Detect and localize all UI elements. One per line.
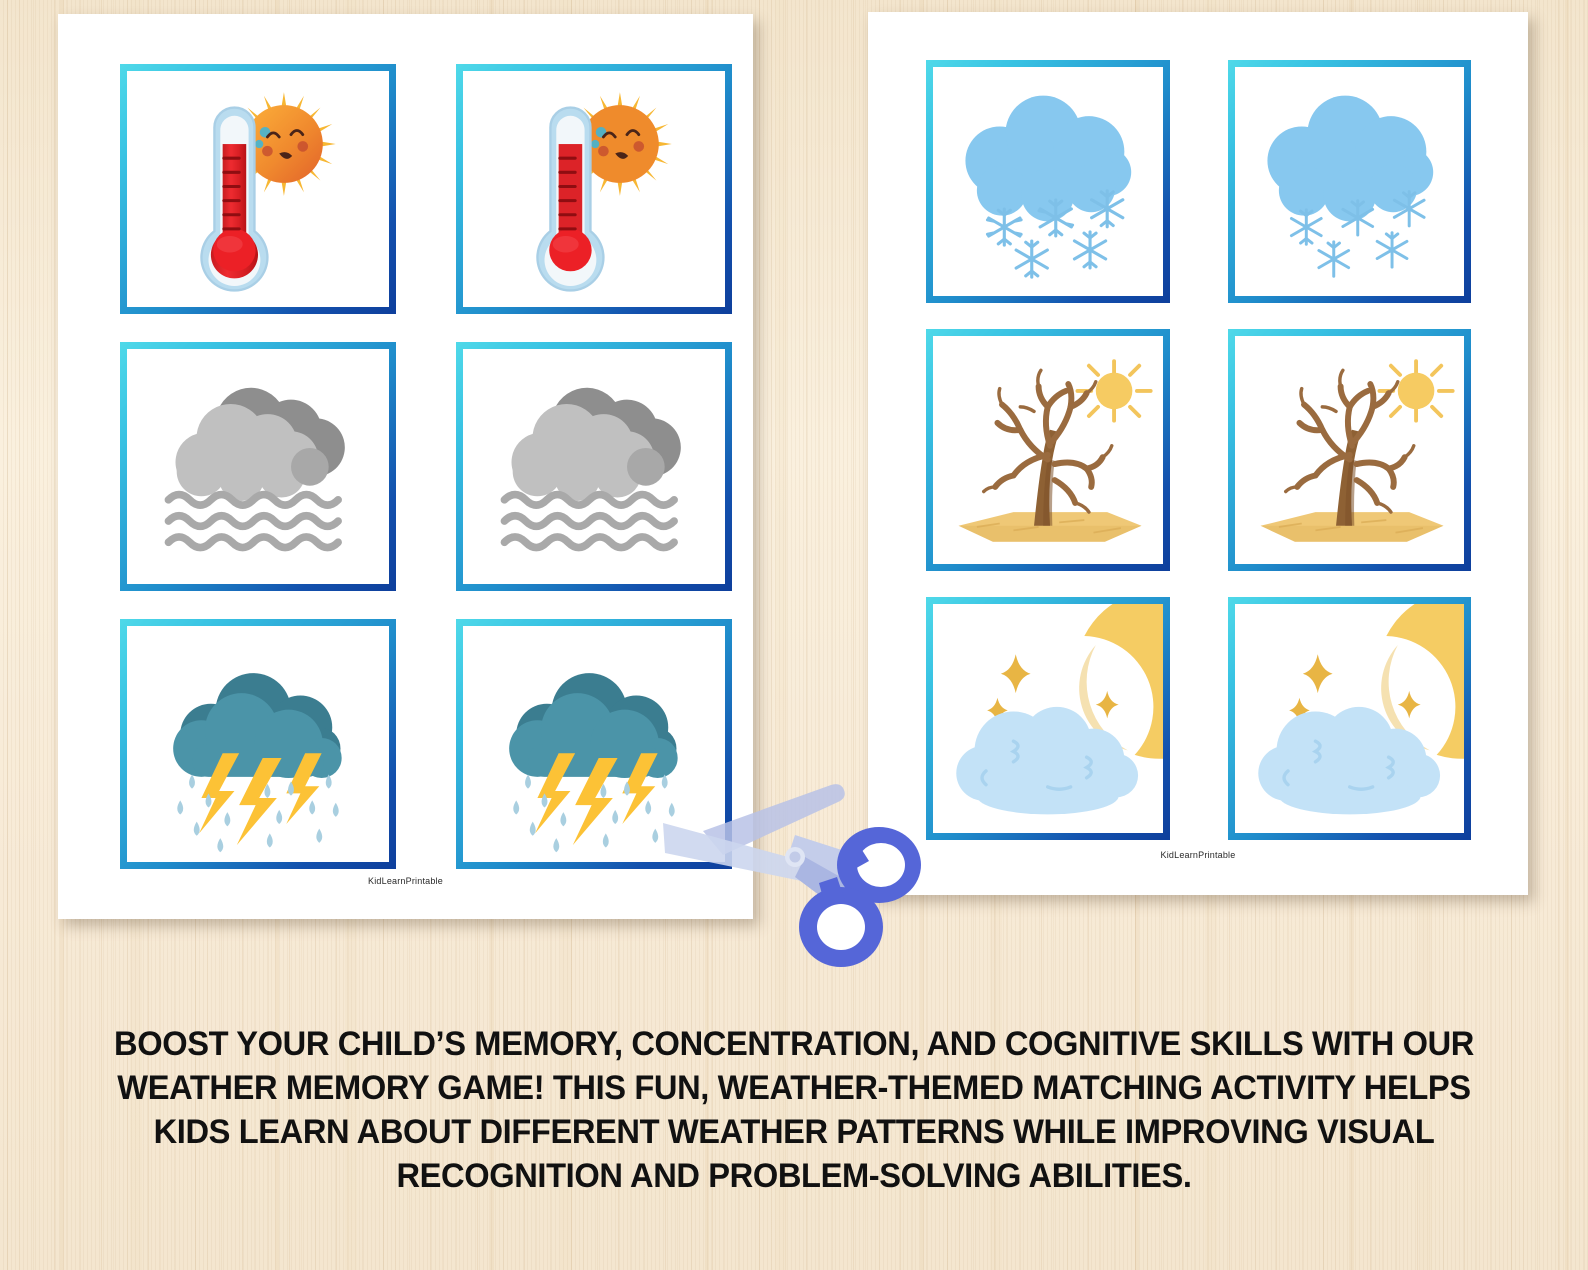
card-inner <box>463 349 725 585</box>
memory-card-snow-1[interactable] <box>926 60 1170 303</box>
night-moon-cloud-icon <box>1235 604 1465 833</box>
memory-card-drought-1[interactable] <box>926 329 1170 572</box>
card-inner <box>933 336 1163 565</box>
caption-block: BOOST YOUR CHILD’S MEMORY, CONCENTRATION… <box>32 1022 1556 1198</box>
card-grid-right <box>926 60 1471 840</box>
printable-sheet-left: KidLearnPrintable <box>58 14 753 919</box>
caption-line-4: RECOGNITION AND PROBLEM-SOLVING ABILITIE… <box>32 1154 1556 1198</box>
printable-sheet-right: KidLearnPrintable <box>868 12 1528 895</box>
snow-cloud-icon <box>1235 67 1465 296</box>
memory-card-night-1[interactable] <box>926 597 1170 840</box>
hot-thermometer-sun-icon <box>463 71 725 307</box>
card-inner <box>933 604 1163 833</box>
drought-tree-sun-icon <box>933 336 1163 565</box>
caption-line-2: WEATHER MEMORY GAME! THIS FUN, WEATHER-T… <box>32 1066 1556 1110</box>
card-inner <box>127 71 389 307</box>
watermark-right: KidLearnPrintable <box>868 850 1528 860</box>
scissors-icon <box>655 735 925 970</box>
card-inner <box>933 67 1163 296</box>
memory-card-snow-2[interactable] <box>1228 60 1472 303</box>
memory-card-night-2[interactable] <box>1228 597 1472 840</box>
card-grid-left <box>120 64 732 869</box>
memory-card-drought-2[interactable] <box>1228 329 1472 572</box>
card-inner <box>127 349 389 585</box>
memory-card-fog-1[interactable] <box>120 342 396 592</box>
caption-line-1: BOOST YOUR CHILD’S MEMORY, CONCENTRATION… <box>32 1022 1556 1066</box>
drought-tree-sun-icon <box>1235 336 1465 565</box>
hot-thermometer-sun-icon <box>127 71 389 307</box>
card-inner <box>127 626 389 862</box>
memory-card-fog-2[interactable] <box>456 342 732 592</box>
fog-cloud-icon <box>463 349 725 585</box>
memory-card-hot-2[interactable] <box>456 64 732 314</box>
card-inner <box>463 71 725 307</box>
memory-card-hot-1[interactable] <box>120 64 396 314</box>
memory-card-thunderstorm-1[interactable] <box>120 619 396 869</box>
watermark-left: KidLearnPrintable <box>58 876 753 886</box>
card-inner <box>1235 67 1465 296</box>
card-inner <box>1235 604 1465 833</box>
fog-cloud-icon <box>127 349 389 585</box>
snow-cloud-icon <box>933 67 1163 296</box>
night-moon-cloud-icon <box>933 604 1163 833</box>
caption-line-3: KIDS LEARN ABOUT DIFFERENT WEATHER PATTE… <box>32 1110 1556 1154</box>
thunderstorm-cloud-icon <box>127 626 389 862</box>
card-inner <box>1235 336 1465 565</box>
